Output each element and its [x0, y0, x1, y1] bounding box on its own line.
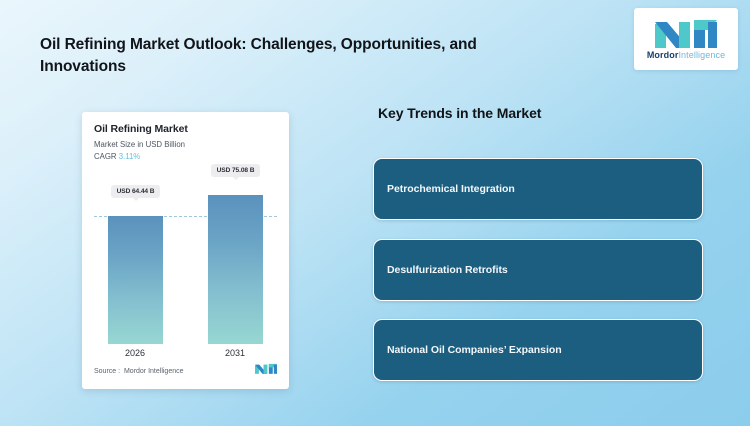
trend-card-petrochemical-integration[interactable]: Petrochemical Integration — [373, 158, 703, 220]
chart-footer: Source : Mordor Intelligence — [94, 362, 277, 380]
bar-value-label: USD 75.08 B — [211, 164, 261, 177]
bar-group-2031[interactable]: USD 75.08 B — [208, 195, 263, 344]
cagr-label: CAGR — [94, 152, 117, 161]
chart-source: Source : Mordor Intelligence — [94, 368, 184, 375]
trend-card-desulfurization-retrofits[interactable]: Desulfurization Retrofits — [373, 239, 703, 301]
mordor-intelligence-logo-icon — [655, 18, 717, 48]
trend-card-national-oil-companies-expansion[interactable]: National Oil Companies’ Expansion — [373, 319, 703, 381]
bar-2026[interactable] — [108, 216, 163, 344]
mordor-intelligence-mark-icon — [255, 362, 277, 380]
trend-card-label: Desulfurization Retrofits — [387, 264, 508, 276]
source-label: Source : — [94, 368, 120, 375]
slide-canvas: MordorIntelligence Oil Refining Market O… — [0, 0, 750, 426]
trend-card-label: Petrochemical Integration — [387, 183, 515, 195]
chart-title: Oil Refining Market — [94, 123, 277, 135]
x-axis-tick-2026: 2026 — [100, 348, 170, 358]
source-name: Mordor Intelligence — [124, 368, 184, 375]
chart-subtitle: Market Size in USD Billion — [94, 139, 277, 151]
market-size-chart-card: Oil Refining Market Market Size in USD B… — [82, 112, 289, 389]
cagr-value: 3.11% — [119, 152, 141, 161]
bar-group-2026[interactable]: USD 64.44 B — [108, 216, 163, 344]
chart-cagr: CAGR 3.11% — [94, 151, 277, 163]
x-axis-tick-2031: 2031 — [200, 348, 270, 358]
chart-plot-area: USD 64.44 B USD 75.08 B — [94, 178, 277, 344]
brand-word-primary: Mordor — [647, 50, 679, 60]
brand-wordmark: MordorIntelligence — [647, 51, 725, 60]
brand-logo-badge: MordorIntelligence — [634, 8, 738, 70]
trend-card-label: National Oil Companies’ Expansion — [387, 344, 562, 356]
brand-word-secondary: Intelligence — [678, 50, 725, 60]
trends-panel-title: Key Trends in the Market — [378, 105, 541, 121]
bar-2031[interactable] — [208, 195, 263, 344]
bar-value-label: USD 64.44 B — [111, 185, 161, 198]
page-title: Oil Refining Market Outlook: Challenges,… — [40, 34, 545, 78]
